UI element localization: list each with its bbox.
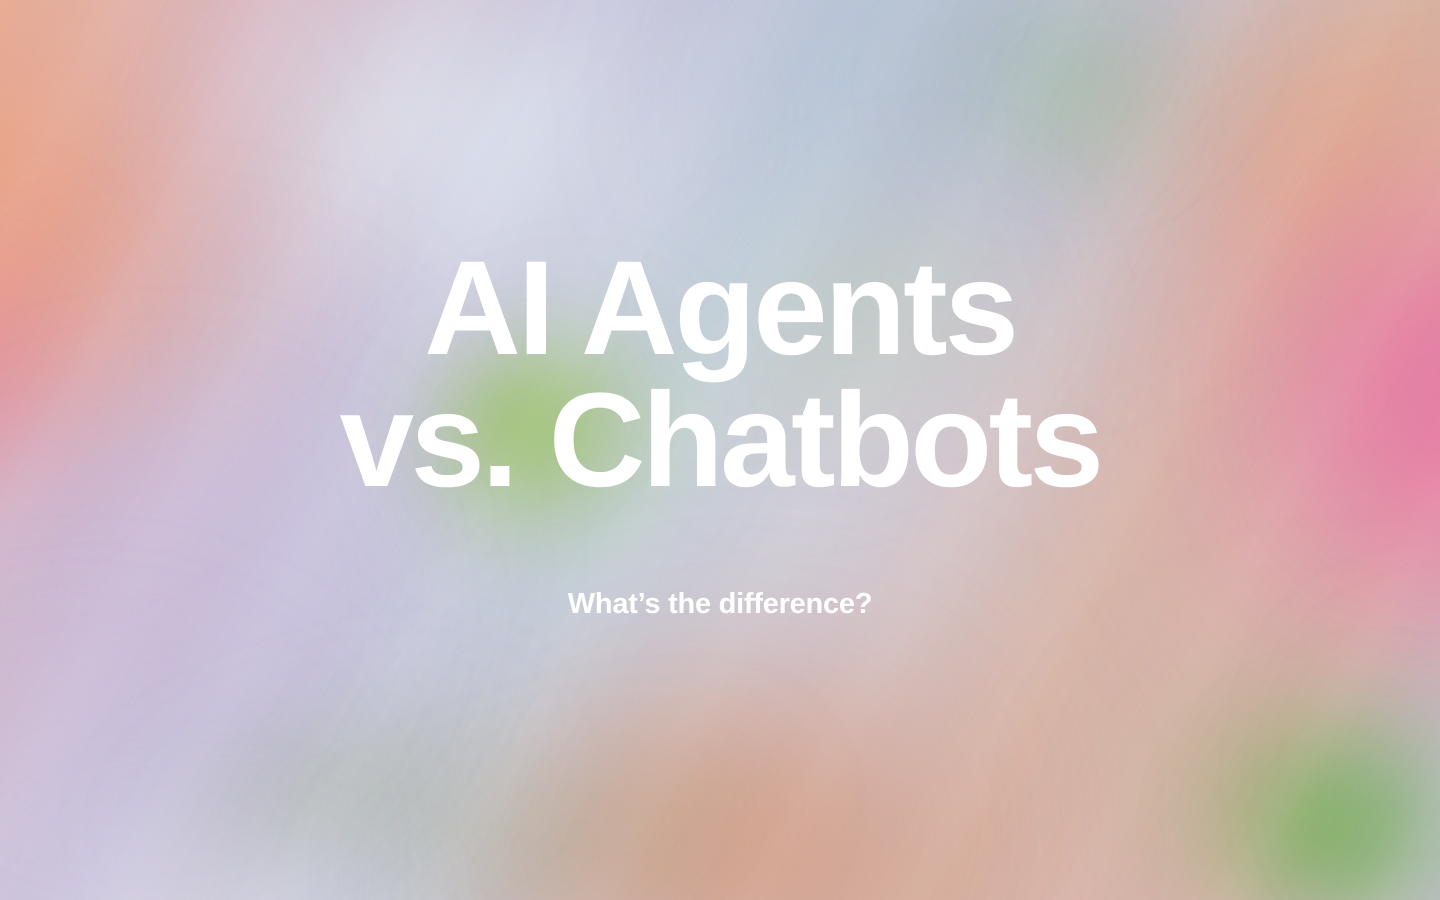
hero-title: AI Agents vs. Chatbots [0, 243, 1440, 507]
hero-title-line-2: vs. Chatbots [0, 375, 1440, 507]
hero-content: AI Agents vs. Chatbots What’s the differ… [0, 0, 1440, 900]
hero-title-line-1: AI Agents [0, 243, 1440, 375]
hero-banner: AI Agents vs. Chatbots What’s the differ… [0, 0, 1440, 900]
hero-subtitle: What’s the difference? [0, 588, 1440, 621]
